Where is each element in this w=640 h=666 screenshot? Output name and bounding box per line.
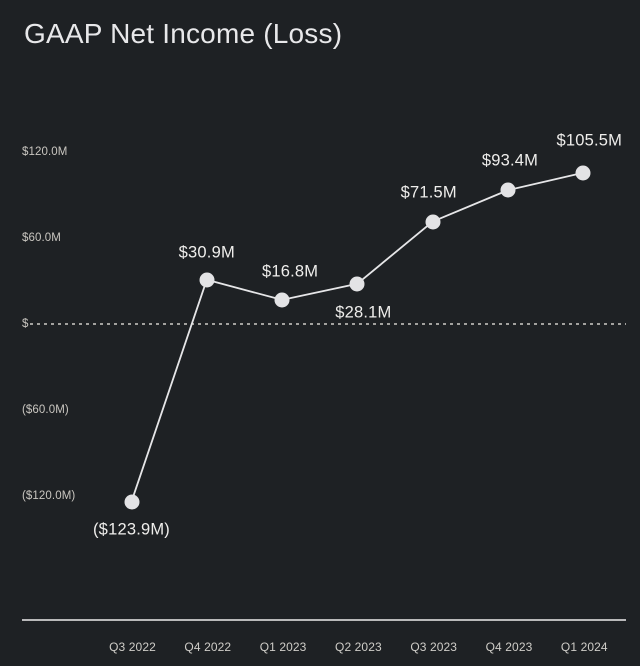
y-axis-tick-label: $60.0M [22,232,61,244]
data-point-marker[interactable] [576,165,591,180]
x-axis-tick-label: Q4 2022 [184,640,231,654]
data-point-value-label: $105.5M [556,131,622,150]
chart-root: GAAP Net Income (Loss) $120.0M$60.0M$($6… [0,0,640,666]
data-point-value-label: $16.8M [262,262,318,281]
x-axis-tick-label: Q1 2024 [561,640,608,654]
data-point-value-label: $71.5M [401,183,457,202]
x-axis-tick-label: Q3 2023 [410,640,457,654]
data-point-marker[interactable] [199,272,214,287]
x-axis-line [22,619,626,621]
data-point-marker[interactable] [425,214,440,229]
plot-area: $120.0M$60.0M$($60.0M)($120.0M) ($123.9M… [0,0,640,666]
y-axis-tick-label: $ [22,318,29,330]
line-chart-svg [0,0,640,666]
data-point-marker[interactable] [350,276,365,291]
y-axis-tick-label: ($60.0M) [22,404,69,416]
data-point-marker[interactable] [124,494,139,509]
data-point-marker[interactable] [275,292,290,307]
series-line-gaap-net-income [132,173,584,502]
data-point-value-label: ($123.9M) [93,520,170,539]
x-axis-tick-label: Q4 2023 [486,640,533,654]
data-point-marker[interactable] [501,183,516,198]
data-point-value-label: $93.4M [482,152,538,171]
data-point-value-label: $30.9M [179,243,235,262]
x-axis-tick-label: Q1 2023 [260,640,307,654]
y-axis-tick-label: ($120.0M) [22,490,75,502]
x-axis-tick-label: Q2 2023 [335,640,382,654]
x-axis-tick-label: Q3 2022 [109,640,156,654]
y-axis-tick-label: $120.0M [22,146,67,158]
data-point-value-label: $28.1M [335,303,391,322]
